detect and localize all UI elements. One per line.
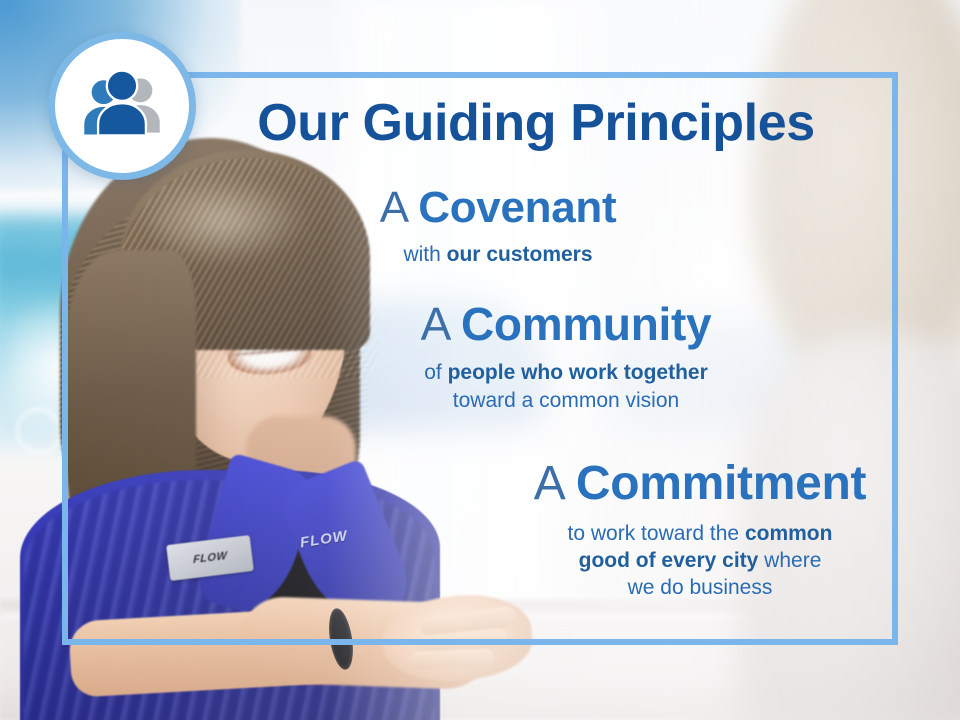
page-title: Our Guiding Principles bbox=[206, 96, 866, 151]
community-line1-part2: people who work together bbox=[448, 361, 708, 384]
people-group-icon bbox=[76, 60, 168, 152]
commitment-line1-part1: to work toward the bbox=[568, 522, 745, 545]
principle-community-article: A bbox=[421, 298, 461, 350]
principle-covenant: A Covenant with our customers bbox=[258, 182, 738, 268]
principle-commitment-subtext-line-3: we do business bbox=[440, 574, 960, 601]
principle-covenant-heading: A Covenant bbox=[258, 182, 738, 233]
principle-community: A Community of people who work together … bbox=[326, 298, 806, 414]
principle-community-keyword: Community bbox=[461, 298, 711, 350]
employee-finger-3 bbox=[410, 649, 495, 670]
commitment-line2-part1: good of every city bbox=[579, 549, 759, 572]
commitment-line2-part2: where bbox=[758, 549, 821, 572]
principle-commitment-subtext-line-1: to work toward the common bbox=[440, 520, 960, 547]
principle-commitment-subtext: to work toward the common good of every … bbox=[440, 520, 960, 602]
people-badge bbox=[48, 32, 196, 180]
principle-commitment-keyword: Commitment bbox=[576, 457, 866, 510]
guiding-principles-graphic: FLOW FLOW Our Guiding Principles bbox=[0, 0, 960, 720]
principle-commitment-subtext-line-2: good of every city where bbox=[440, 547, 960, 574]
covenant-line1-part2: our customers bbox=[447, 243, 593, 266]
principle-commitment-article: A bbox=[534, 457, 576, 510]
covenant-line1-part1: with bbox=[403, 243, 446, 266]
community-line2-part1: toward a common vision bbox=[453, 389, 679, 412]
principle-covenant-keyword: Covenant bbox=[418, 183, 616, 232]
principle-commitment-heading: A Commitment bbox=[440, 456, 960, 512]
principle-community-subtext-line-2: toward a common vision bbox=[326, 387, 806, 414]
commitment-line1-part2: common bbox=[745, 522, 833, 545]
principle-covenant-article: A bbox=[380, 183, 419, 232]
principle-community-subtext-line-1: of people who work together bbox=[326, 359, 806, 386]
commitment-line3-part1: we do business bbox=[628, 576, 773, 599]
principle-commitment: A Commitment to work toward the common g… bbox=[440, 456, 960, 602]
principle-community-subtext: of people who work together toward a com… bbox=[326, 359, 806, 414]
community-line1-part1: of bbox=[424, 361, 447, 384]
principle-covenant-subtext-line-1: with our customers bbox=[258, 241, 738, 268]
principle-community-heading: A Community bbox=[326, 298, 806, 351]
name-badge-brand-text: FLOW bbox=[193, 550, 227, 566]
principle-covenant-subtext: with our customers bbox=[258, 241, 738, 268]
